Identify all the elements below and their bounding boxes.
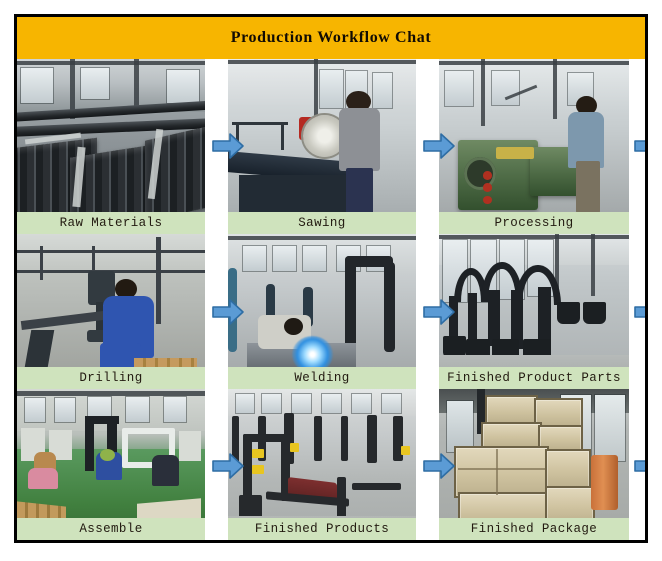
step-5-photo	[228, 234, 416, 389]
step-5-caption: Welding	[228, 367, 416, 389]
step-1-photo	[17, 59, 205, 234]
workflow-grid: Raw Materials	[17, 59, 645, 540]
page-title: Production Workflow Chat	[231, 29, 432, 47]
workflow-step-8[interactable]: Finished Products	[228, 389, 416, 540]
step-8-caption: Finished Products	[228, 518, 416, 540]
workflow-step-3[interactable]: Processing	[439, 59, 629, 234]
workflow-step-2[interactable]: Sawing	[228, 59, 416, 234]
step-7-caption: Assemble	[17, 518, 205, 540]
step-6-photo	[439, 234, 629, 389]
workflow-step-6[interactable]: Finished Product Parts	[439, 234, 629, 389]
title-bar: Production Workflow Chat	[17, 17, 645, 59]
workflow-step-9[interactable]: Finished Package	[439, 389, 629, 540]
workflow-step-7[interactable]: Assemble	[17, 389, 205, 540]
workflow-step-4[interactable]: Drilling	[17, 234, 205, 389]
step-3-caption: Processing	[439, 212, 629, 234]
arrow-right-icon	[633, 451, 648, 481]
arrow-right-icon	[211, 297, 245, 327]
infographic-frame: Production Workflow Chat	[14, 14, 648, 543]
arrow-right-icon	[422, 297, 456, 327]
workflow-step-1[interactable]: Raw Materials	[17, 59, 205, 234]
step-3-photo	[439, 59, 629, 234]
step-6-caption: Finished Product Parts	[439, 367, 629, 389]
arrow-right-icon	[422, 131, 456, 161]
step-4-photo	[17, 234, 205, 389]
step-2-caption: Sawing	[228, 212, 416, 234]
step-9-caption: Finished Package	[439, 518, 629, 540]
arrow-right-icon	[633, 131, 648, 161]
step-4-caption: Drilling	[17, 367, 205, 389]
step-2-photo	[228, 59, 416, 234]
workflow-step-5[interactable]: Welding	[228, 234, 416, 389]
arrow-right-icon	[211, 131, 245, 161]
step-1-caption: Raw Materials	[17, 212, 205, 234]
arrow-right-icon	[422, 451, 456, 481]
workflow-infographic: Production Workflow Chat	[0, 0, 662, 561]
arrow-right-icon	[633, 297, 648, 327]
arrow-right-icon	[211, 451, 245, 481]
